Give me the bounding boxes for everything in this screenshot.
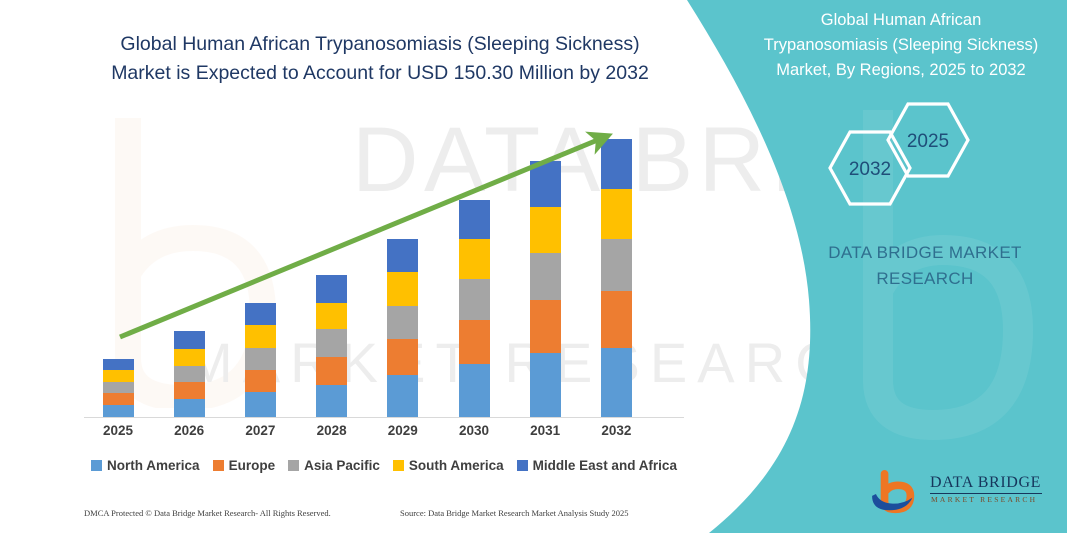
page-title-line-2: Market is Expected to Account for USD 15… [60,59,700,88]
legend-item-middle-east-and-africa[interactable]: Middle East and Africa [517,458,677,473]
bar-segment-2029-north-america [387,375,418,417]
x-axis-label-2028: 2028 [302,423,362,438]
bar-segment-2029-asia-pacific [387,306,418,339]
bar-segment-2030-north-america [459,364,490,417]
footer: DMCA Protected © Data Bridge Market Rese… [0,508,712,526]
x-axis-label-2031: 2031 [515,423,575,438]
legend-swatch-icon [213,460,224,471]
bar-segment-2026-asia-pacific [174,366,205,383]
bar-segment-2031-middle-east-and-africa [530,161,561,207]
data-bridge-logo-mark-icon [868,470,926,516]
bar-segment-2028-europe [316,357,347,385]
bar-segment-2028-middle-east-and-africa [316,275,347,303]
page-title: Global Human African Trypanosomiasis (Sl… [60,30,700,88]
legend-label: Asia Pacific [304,458,380,473]
bar-segment-2031-south-america [530,207,561,253]
bar-segment-2025-europe [103,393,134,404]
chart-legend: North AmericaEuropeAsia PacificSouth Ame… [84,455,684,475]
footer-copyright: DMCA Protected © Data Bridge Market Rese… [84,508,331,518]
x-axis-label-2030: 2030 [444,423,504,438]
bar-segment-2026-south-america [174,349,205,366]
legend-swatch-icon [393,460,404,471]
legend-swatch-icon [517,460,528,471]
stacked-bar-chart [84,118,684,418]
bar-2030 [459,200,490,417]
legend-item-europe[interactable]: Europe [213,458,276,473]
chart-x-axis-labels: 20252026202720282029203020312032 [84,423,684,443]
x-axis-label-2027: 2027 [230,423,290,438]
bar-segment-2032-europe [601,291,632,348]
bar-segment-2031-asia-pacific [530,253,561,300]
logo-name-line-1: DATA BRIDGE [930,474,1041,492]
bar-segment-2026-north-america [174,399,205,417]
bar-segment-2030-middle-east-and-africa [459,200,490,239]
legend-label: Middle East and Africa [533,458,677,473]
bar-segment-2029-europe [387,339,418,375]
legend-swatch-icon [288,460,299,471]
legend-label: North America [107,458,200,473]
x-axis-label-2032: 2032 [586,423,646,438]
legend-label: Europe [229,458,276,473]
bar-2027 [245,303,276,417]
bar-segment-2032-south-america [601,189,632,239]
bar-segment-2028-north-america [316,385,347,417]
page-title-line-1: Global Human African Trypanosomiasis (Sl… [60,30,700,59]
bar-2032 [601,139,632,417]
bar-segment-2031-north-america [530,353,561,417]
infographic-canvas: DATA BRIDGE MARKET RESEARCH Global Human… [0,0,1067,533]
bar-segment-2026-europe [174,382,205,399]
bar-segment-2026-middle-east-and-africa [174,331,205,349]
bar-segment-2030-europe [459,320,490,364]
bar-segment-2027-middle-east-and-africa [245,303,276,325]
bar-segment-2031-europe [530,300,561,353]
bar-segment-2027-north-america [245,392,276,417]
bar-segment-2029-south-america [387,272,418,305]
bar-2031 [530,161,561,417]
bar-segment-2025-middle-east-and-africa [103,359,134,370]
x-axis-label-2029: 2029 [373,423,433,438]
teal-side-panel [667,0,1067,533]
legend-item-south-america[interactable]: South America [393,458,504,473]
bar-segment-2029-middle-east-and-africa [387,239,418,272]
legend-swatch-icon [91,460,102,471]
bar-segment-2030-asia-pacific [459,279,490,319]
bar-segment-2027-south-america [245,325,276,347]
logo-name-line-2: MARKET RESEARCH [931,495,1037,504]
bar-segment-2028-asia-pacific [316,329,347,357]
bar-segment-2027-asia-pacific [245,348,276,370]
bar-segment-2027-europe [245,370,276,392]
bar-2028 [316,275,347,417]
bar-segment-2030-south-america [459,239,490,279]
legend-label: South America [409,458,504,473]
bar-segment-2025-north-america [103,405,134,418]
chart-baseline [84,417,684,418]
bar-segment-2025-asia-pacific [103,382,134,393]
bar-segment-2025-south-america [103,370,134,383]
bar-segment-2032-asia-pacific [601,239,632,290]
footer-source: Source: Data Bridge Market Research Mark… [400,508,629,518]
x-axis-label-2025: 2025 [88,423,148,438]
legend-item-asia-pacific[interactable]: Asia Pacific [288,458,380,473]
bar-segment-2032-middle-east-and-africa [601,139,632,189]
bar-segment-2028-south-america [316,303,347,329]
bar-2026 [174,331,205,417]
bar-2029 [387,239,418,417]
bar-2025 [103,359,134,417]
logo-divider [930,493,1042,494]
bar-segment-2032-north-america [601,348,632,418]
legend-item-north-america[interactable]: North America [91,458,200,473]
x-axis-label-2026: 2026 [159,423,219,438]
company-logo: DATA BRIDGE MARKET RESEARCH [868,468,1048,520]
